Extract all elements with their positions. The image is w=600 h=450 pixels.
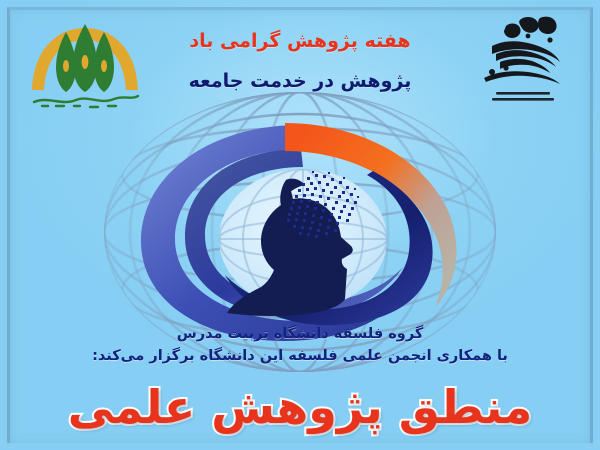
swirl-arm-navy — [225, 171, 433, 325]
research-service-slogan: پژوهش در خدمت جامعه — [0, 70, 600, 92]
event-title: منطق پژوهش علمی — [0, 380, 600, 434]
research-week-slogan: هفته پژوهش گرامی باد — [0, 30, 600, 52]
poster-canvas: هفته پژوهش گرامی باد پژوهش در خدمت جامعه… — [0, 0, 600, 450]
swirl-arm-orange — [285, 123, 457, 307]
brain-particles — [287, 171, 359, 238]
swirl-artwork — [135, 117, 465, 347]
organizer-line-2: با همکاری انجمن علمی فلسفه این دانشگاه ب… — [0, 348, 600, 364]
inner-disc — [219, 169, 387, 309]
organizer-line-1: گروه فلسفه دانشگاه تربیت مدرس — [0, 326, 600, 342]
swirl-arm-blue-outer — [141, 125, 421, 341]
thinking-head-silhouette — [227, 179, 353, 316]
philosophy-association-logo — [462, 10, 582, 112]
swirl-arm-blue-mid — [185, 149, 403, 317]
